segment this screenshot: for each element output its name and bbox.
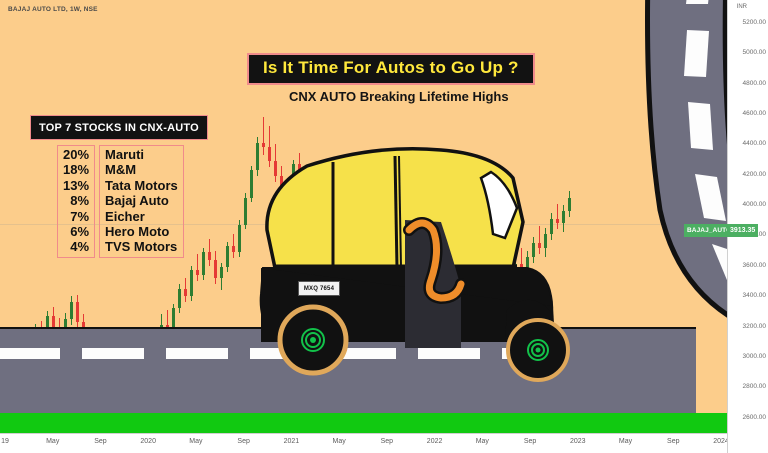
candle-body <box>70 302 73 319</box>
stocks-panel-table: 20%18%13%8%7%6%4% MarutiM&MTata MotorsBa… <box>57 145 184 258</box>
price-axis-tick: 4600.00 <box>743 110 767 117</box>
stocks-panel-header: TOP 7 STOCKS IN CNX-AUTO <box>30 115 208 140</box>
stock-name: Hero Moto <box>105 224 178 239</box>
candle-body <box>76 302 79 322</box>
time-axis-tick: May <box>476 438 489 445</box>
time-axis-tick: 2021 <box>284 438 300 445</box>
candle-body <box>220 267 223 278</box>
time-axis-tick: May <box>619 438 632 445</box>
tradingview-chart-screenshot: MXQ 7654 BAJAJ AUTO LTD, 1W, NSE Is It T… <box>0 0 768 453</box>
stock-weight: 18% <box>63 162 89 177</box>
stock-name: Eicher <box>105 209 178 224</box>
headline-text: Is It Time For Autos to Go Up ? <box>263 58 519 77</box>
price-axis-tick: 4800.00 <box>743 80 767 87</box>
stock-name: Tata Motors <box>105 178 178 193</box>
time-axis-tick: 2023 <box>570 438 586 445</box>
candle-body <box>232 246 235 252</box>
headline-banner: Is It Time For Autos to Go Up ? <box>247 53 535 85</box>
stock-weight: 4% <box>63 239 89 254</box>
candle-wick <box>197 254 198 281</box>
price-axis-tick: 4200.00 <box>743 171 767 178</box>
candle-body <box>190 270 193 296</box>
stock-weight: 13% <box>63 178 89 193</box>
candle-body <box>184 289 187 297</box>
time-axis-tick: May <box>46 438 59 445</box>
subheadline-text: CNX AUTO Breaking Lifetime Highs <box>289 89 509 104</box>
candle-body <box>196 270 199 275</box>
symbol-badge-text: BAJAJ_AUTO <box>687 227 731 234</box>
road-dash <box>82 348 144 359</box>
candle-body <box>202 252 205 275</box>
time-axis-tick: Sep <box>237 438 249 445</box>
stocks-name-column: MarutiM&MTata MotorsBajaj AutoEicherHero… <box>99 145 184 258</box>
stocks-weight-column: 20%18%13%8%7%6%4% <box>57 145 95 258</box>
price-axis-tick: 5000.00 <box>743 49 767 56</box>
ticker-label: BAJAJ AUTO LTD, 1W, NSE <box>8 6 98 13</box>
stock-weight: 7% <box>63 209 89 224</box>
stock-weight: 8% <box>63 193 89 208</box>
candle-body <box>244 198 247 225</box>
price-axis-tick: 4400.00 <box>743 140 767 147</box>
time-axis-tick: 19 <box>1 438 9 445</box>
auto-rickshaw-illustration <box>255 138 575 393</box>
stock-name: Maruti <box>105 147 178 162</box>
road-dash <box>166 348 228 359</box>
time-axis-tick: Sep <box>381 438 393 445</box>
price-axis-tick: 3000.00 <box>743 353 767 360</box>
candle-body <box>250 170 253 197</box>
time-axis-tick: Sep <box>94 438 106 445</box>
time-axis-tick: Sep <box>667 438 679 445</box>
candle-body <box>226 246 229 267</box>
stock-name: Bajaj Auto <box>105 193 178 208</box>
price-axis-tick: 3200.00 <box>743 323 767 330</box>
stocks-panel-header-text: TOP 7 STOCKS IN CNX-AUTO <box>39 122 199 134</box>
price-axis-tick: 3600.00 <box>743 262 767 269</box>
road-dash <box>0 348 60 359</box>
candle-body <box>208 252 211 260</box>
last-price-text: 3913.35 <box>730 227 755 234</box>
price-axis-tick: 3400.00 <box>743 292 767 299</box>
stock-name: TVS Motors <box>105 239 178 254</box>
time-axis[interactable]: 19MaySep2020MaySep2021MaySep2022MaySep20… <box>0 433 727 453</box>
price-axis-tick: 4000.00 <box>743 201 767 208</box>
stock-name: M&M <box>105 162 178 177</box>
price-axis-tick: 2800.00 <box>743 383 767 390</box>
stock-weight: 6% <box>63 224 89 239</box>
chart-plot-area[interactable]: MXQ 7654 BAJAJ AUTO LTD, 1W, NSE Is It T… <box>0 0 727 433</box>
license-plate: MXQ 7654 <box>298 281 340 296</box>
price-axis-tick: 5200.00 <box>743 19 767 26</box>
license-plate-text: MXQ 7654 <box>304 286 334 292</box>
candle-body <box>178 289 181 309</box>
price-axis-tick: 2600.00 <box>743 414 767 421</box>
last-price-badge: 3913.35 <box>727 224 758 237</box>
stock-weight: 20% <box>63 147 89 162</box>
time-axis-tick: May <box>189 438 202 445</box>
candle-body <box>238 225 241 252</box>
time-axis-tick: May <box>333 438 346 445</box>
time-axis-tick: 2020 <box>140 438 156 445</box>
time-axis-tick: 2022 <box>427 438 443 445</box>
currency-label: INR <box>737 4 747 10</box>
candle-body <box>214 260 217 278</box>
time-axis-tick: Sep <box>524 438 536 445</box>
